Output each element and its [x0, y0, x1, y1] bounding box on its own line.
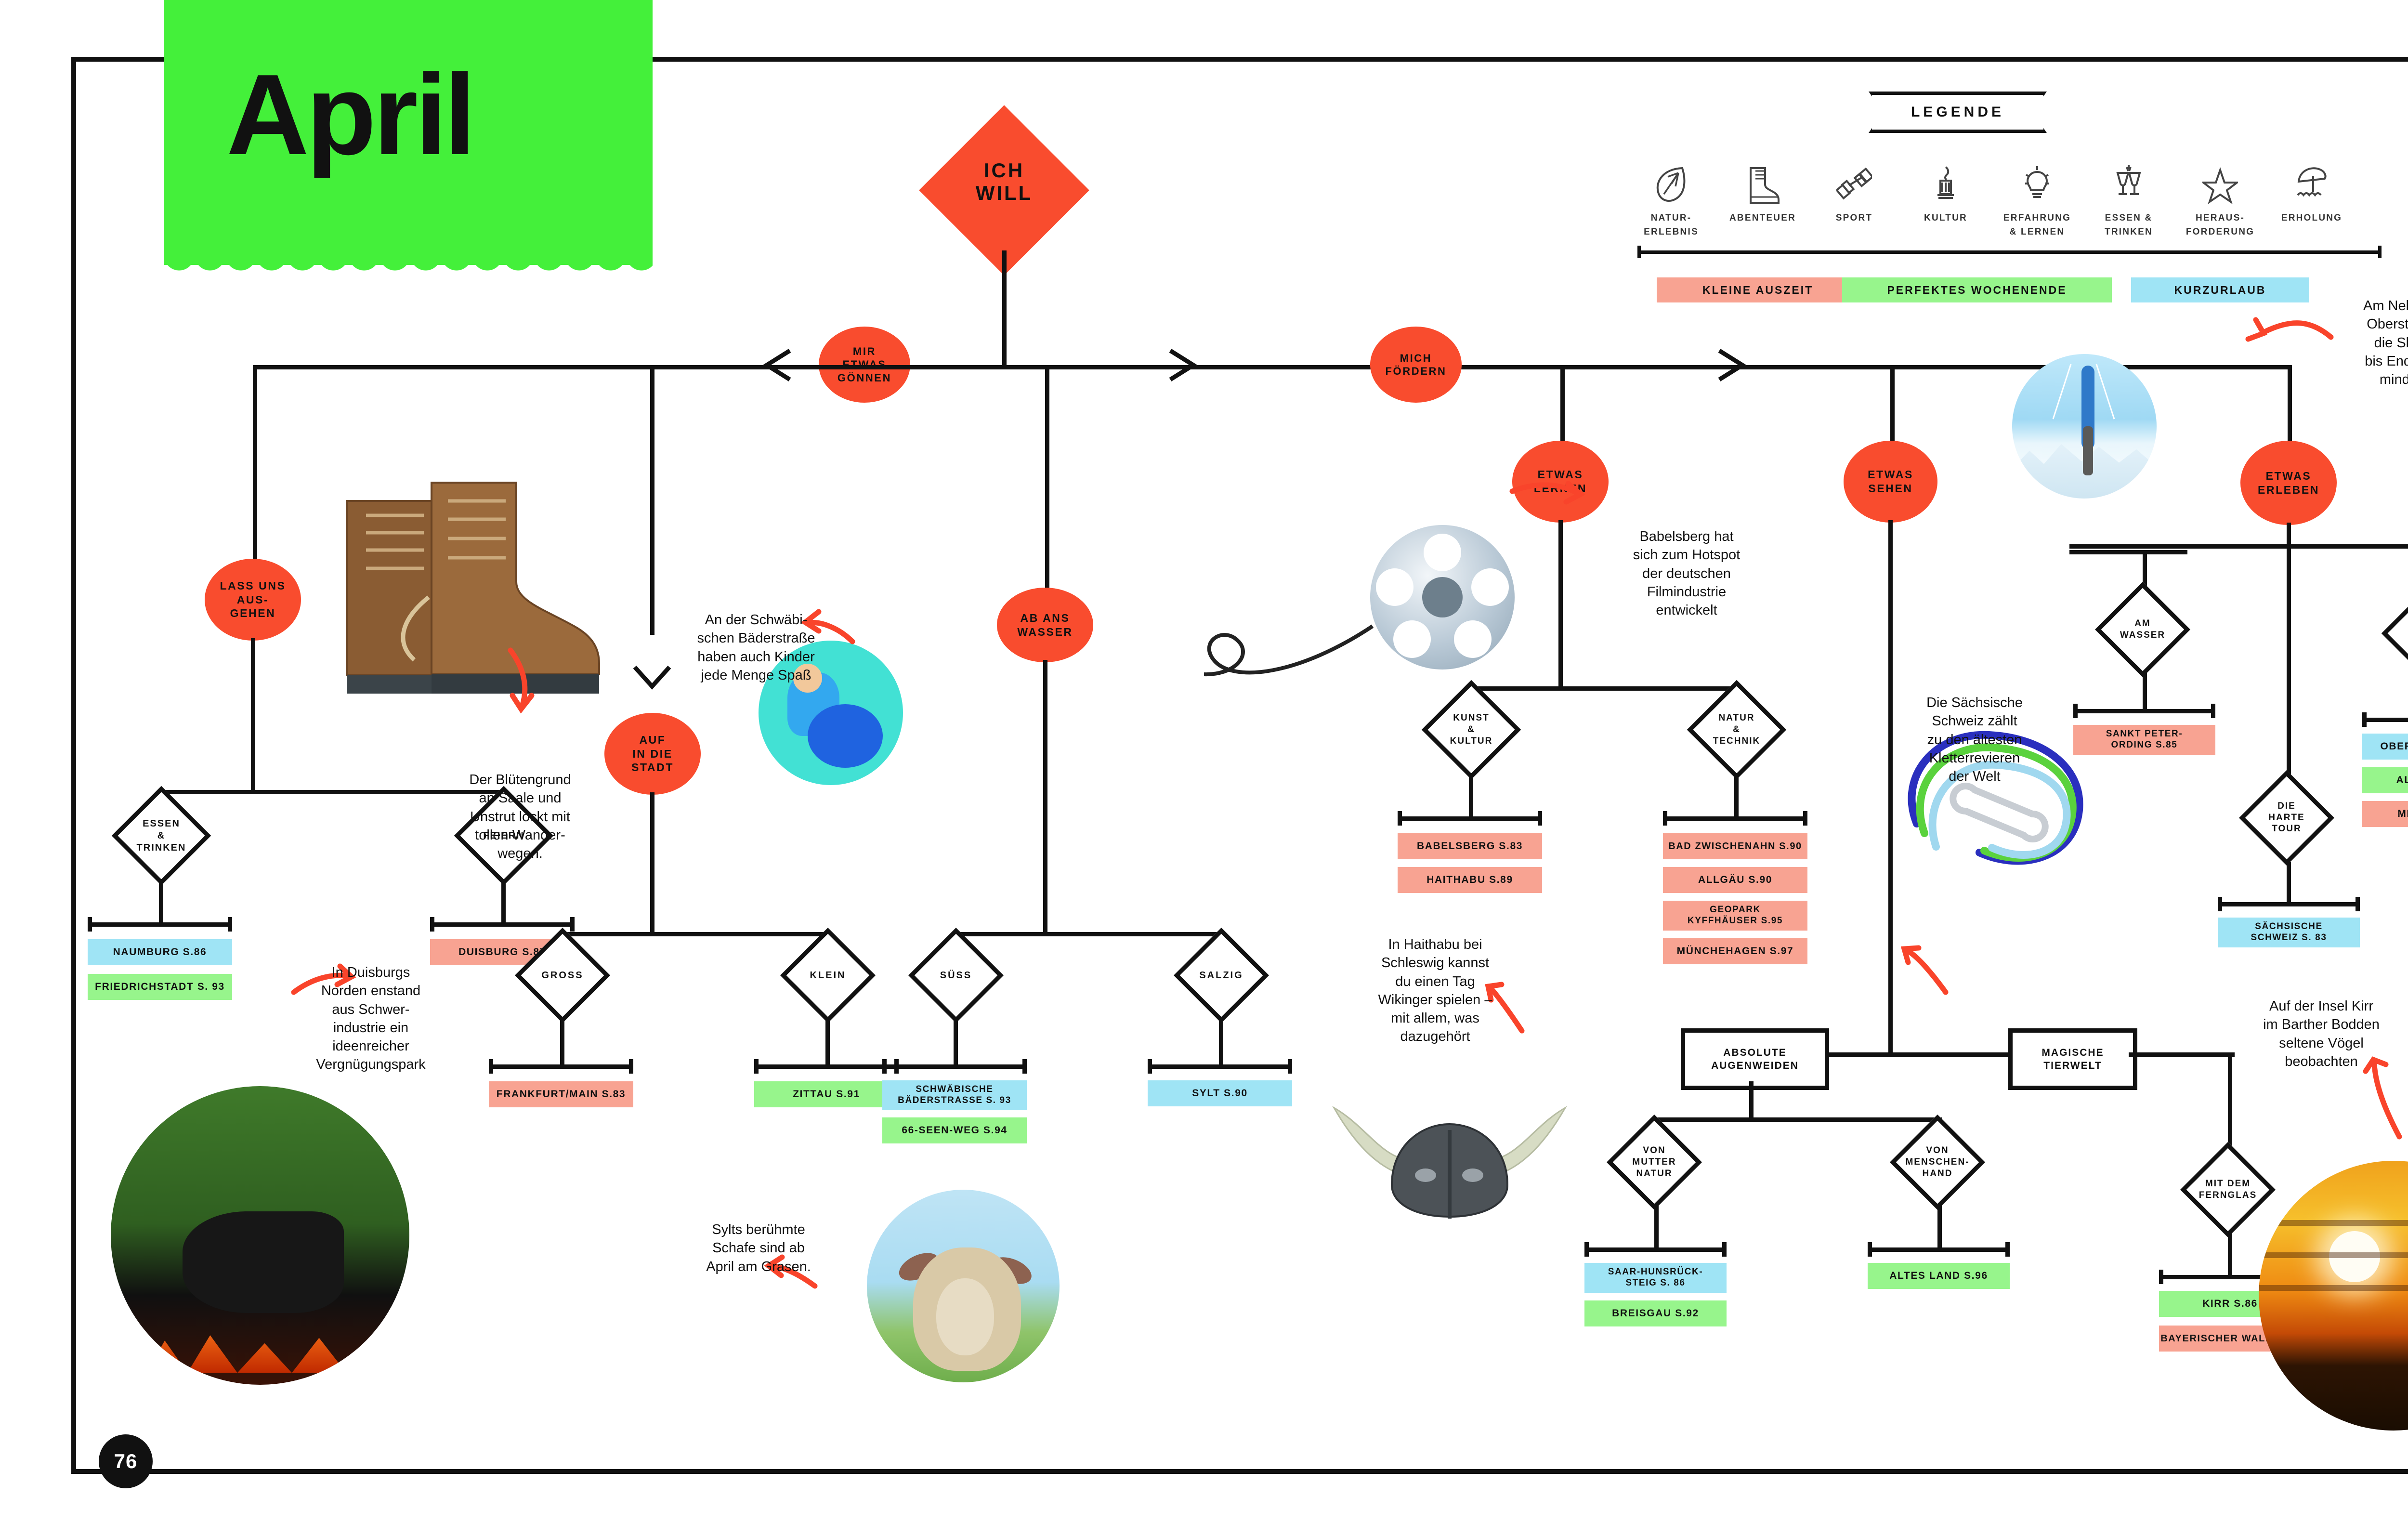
annotation-duisburg: In Duisburgs Norden enstand aus Schwer- …	[299, 963, 443, 1074]
tag-bracket	[489, 1064, 633, 1069]
tag-bracket	[88, 922, 232, 927]
connector	[954, 1019, 958, 1067]
node-absolute-augenweiden: ABSOLUTE AUGENWEIDEN	[1681, 1028, 1829, 1090]
connector	[560, 1019, 564, 1067]
photo-sheep	[867, 1190, 1060, 1382]
node-am-wasser: AM WASSER	[2099, 584, 2186, 675]
tag-oberstdorf: OBERSTDORF S.81	[2362, 734, 2408, 760]
connector	[1890, 365, 1895, 447]
node-label: NATUR & TECHNIK	[1713, 712, 1760, 747]
connector	[501, 879, 506, 925]
annotation-saechsische: Die Sächsische Schweiz zählt zu den älte…	[1902, 694, 2047, 786]
annotation-babelsberg: Babelsberg hat sich zum Hotspot der deut…	[1614, 527, 1759, 619]
annotation-schwaebische: An der Schwäbi- schen Bäderstraße haben …	[684, 611, 828, 684]
connector	[2228, 1233, 2232, 1277]
tag-zittau: ZITTAU S.91	[754, 1081, 899, 1107]
node-label: AM WASSER	[2120, 618, 2165, 641]
connector	[1560, 365, 2291, 369]
tag-bracket	[1663, 816, 1807, 821]
root-label: ICH WILL	[944, 159, 1064, 204]
tag-haithabu: HAITHABU S.89	[1398, 867, 1542, 893]
node-essen-trinken: ESSEN & TRINKEN	[116, 790, 207, 881]
node-von-menschenhand: VON MENSCHEN- HAND	[1894, 1116, 1981, 1208]
legend-item-abenteuer: ABENTEUER	[1717, 154, 1808, 225]
tag-allgaeu-84: ALLGÄU S.84	[2362, 767, 2408, 793]
page-number-left: 76	[99, 1434, 153, 1488]
annotation-nebelhorn: Am Nebelhorn in Oberstdorf geht die Skis…	[2345, 297, 2408, 389]
month-tab-scallop	[164, 255, 653, 286]
connector	[2228, 1052, 2232, 1146]
connector	[650, 365, 654, 635]
tag-bracket	[2218, 902, 2360, 906]
tag-bracket	[1868, 1247, 2010, 1252]
node-kunst-kultur: KUNST & KULTUR	[1426, 684, 1517, 775]
node-natur-technik: NATUR & TECHNIK	[1691, 684, 1782, 775]
tag-saechsische-schweiz: SÄCHSISCHE SCHWEIZ S. 83	[2218, 918, 2360, 947]
node-label: SALZIG	[1199, 970, 1243, 982]
connector	[1043, 660, 1047, 932]
connector	[2288, 365, 2292, 447]
boot-icon	[1717, 154, 1808, 205]
node-salzig: SALZIG	[1176, 930, 1267, 1021]
legend-item-erholung: ERHOLUNG	[2266, 154, 2357, 225]
connector	[1219, 1019, 1223, 1067]
legend-title: LEGENDE	[1869, 92, 2047, 133]
legend-label: ESSEN & TRINKEN	[2083, 211, 2174, 239]
infographic-page: April 76 77 LEGENDE NATUR- ERLEBNIS ABEN…	[0, 0, 2408, 1536]
connector	[1654, 1206, 1659, 1250]
prop-filmreel	[1370, 525, 1515, 670]
tag-altes-land: ALTES LAND S.96	[1868, 1263, 2010, 1289]
connector	[1749, 1081, 1754, 1120]
node-label: KUNST & KULTUR	[1450, 712, 1493, 747]
node-label: GROSS	[541, 970, 583, 982]
tag-naumburg: NAUMBURG S.86	[88, 939, 232, 965]
connector	[1558, 520, 1563, 686]
node-etwas-lernen: ETWAS LERNEN	[1512, 441, 1609, 523]
legend-label: ERHOLUNG	[2266, 211, 2357, 225]
tag-merzig: MERZIG S.94	[2362, 801, 2408, 827]
legend-item-natur: NATUR- ERLEBNIS	[1625, 154, 1717, 239]
tag-bracket	[754, 1064, 899, 1069]
node-label: VON MENSCHEN- HAND	[1905, 1145, 1969, 1179]
legend-label: KULTUR	[1900, 211, 1991, 225]
node-mir-etwas-goennen: MIR ETWAS GÖNNEN	[819, 327, 910, 403]
node-label: ESSEN & TRINKEN	[137, 818, 186, 854]
tag-geopark-kyffhaeuser: GEOPARK KYFFHÄUSER S.95	[1663, 901, 1807, 931]
monument-icon	[1900, 154, 1991, 205]
legend-label: NATUR- ERLEBNIS	[1625, 211, 1717, 239]
legend-chip-perfektes-wochenende: PERFEKTES WOCHENENDE	[1842, 277, 2112, 302]
node-label: MIT DEM FERNGLAS	[2199, 1178, 2257, 1201]
legend-scale-bar	[1637, 250, 2382, 254]
tag-saar-hunsrueck-steig: SAAR-HUNSRÜCK- STEIG S. 86	[1584, 1263, 1727, 1293]
tag-66-seen-weg: 66-SEEN-WEG S.94	[882, 1117, 1027, 1143]
node-suess: SÜSS	[910, 930, 1002, 1021]
connector	[2143, 673, 2147, 712]
annotation-sylt: Sylts berühmte Schafe sind ab April am G…	[684, 1221, 833, 1276]
connector	[1888, 520, 1893, 1055]
tag-bracket	[1148, 1064, 1292, 1069]
connector	[2069, 550, 2187, 554]
legend-item-erfahrung: ERFAHRUNG & LERNEN	[1991, 154, 2083, 239]
tag-schwaebische-baederstrasse: SCHWÄBISCHE BÄDERSTRASSE S. 93	[882, 1080, 1027, 1110]
node-von-mutter-natur: VON MUTTER NATUR	[1611, 1116, 1698, 1208]
cheers-icon	[2083, 154, 2174, 205]
connector	[2287, 523, 2291, 592]
connector	[650, 792, 654, 932]
node-ab-ans-wasser: AB ANS WASSER	[997, 588, 1093, 662]
connector	[1469, 773, 1473, 819]
tag-muenchehagen: MÜNCHEHAGEN S.97	[1663, 938, 1807, 964]
legend-label: ERFAHRUNG & LERNEN	[1991, 211, 2083, 239]
tag-breisgau: BREISGAU S.92	[1584, 1300, 1727, 1326]
tag-bad-zwischenahn: BAD ZWISCHENAHN S.90	[1663, 833, 1807, 859]
page-title: April	[226, 58, 473, 172]
connector	[650, 365, 1049, 369]
node-label: DIE HARTE TOUR	[2268, 801, 2304, 835]
star-icon	[2174, 154, 2266, 205]
tag-bracket	[1398, 816, 1542, 821]
dumbbell-icon	[1808, 154, 1900, 205]
connector	[1937, 1206, 1942, 1250]
connector	[1560, 365, 1565, 447]
tag-bracket	[1584, 1247, 1727, 1252]
node-mit-dem-fernglas: MIT DEM FERNGLAS	[2185, 1144, 2271, 1235]
tag-sylt: SYLT S.90	[1148, 1080, 1292, 1106]
connector	[251, 638, 255, 790]
annotation-kirr: Auf der Insel Kirr im Barther Bodden sel…	[2244, 997, 2398, 1071]
connector	[825, 1019, 830, 1067]
legend-chip-kleine-auszeit: KLEINE AUSZEIT	[1657, 277, 1859, 302]
tag-friedrichstadt: FRIEDRICHSTADT S. 93	[88, 974, 232, 1000]
connector	[1734, 773, 1739, 819]
legend-label: HERAUS- FORDERUNG	[2174, 211, 2266, 239]
tag-bracket	[430, 922, 575, 927]
legend-item-essen: ESSEN & TRINKEN	[2083, 154, 2174, 239]
node-die-harte-tour: DIE HARTE TOUR	[2243, 771, 2330, 865]
node-label: KLEIN	[810, 970, 846, 982]
legend-item-kultur: KULTUR	[1900, 154, 1991, 225]
photo-ski	[2012, 354, 2157, 499]
node-magische-tierwelt: MAGISCHE TIERWELT	[2008, 1028, 2137, 1090]
tag-frankfurt: FRANKFURT/MAIN S.83	[489, 1081, 633, 1107]
tag-bracket	[882, 1064, 1027, 1069]
legend-item-herausforderung: HERAUS- FORDERUNG	[2174, 154, 2266, 239]
connector	[2069, 544, 2408, 549]
photo-knight	[111, 1086, 409, 1385]
connector	[159, 879, 163, 925]
node-klein: KLEIN	[782, 930, 874, 1021]
node-etwas-erleben: ETWAS ERLEBEN	[2240, 441, 2337, 525]
node-gross: GROSS	[517, 930, 608, 1021]
connector	[1002, 250, 1007, 367]
node-mich-foerdern: MICH FÖRDERN	[1370, 327, 1462, 403]
node-in-den-bergen: IN DEN BERGEN	[2388, 588, 2408, 679]
legend-banner: LEGENDE	[1869, 92, 2047, 133]
node-label: SÜSS	[940, 970, 972, 982]
legend-label: SPORT	[1808, 211, 1900, 225]
legend-label: ABENTEUER	[1717, 211, 1808, 225]
tag-babelsberg: BABELSBERG S.83	[1398, 833, 1542, 859]
tag-bracket	[2362, 718, 2408, 722]
tag-sankt-peter-ording: SANKT PETER- ORDING S.85	[2073, 725, 2215, 755]
node-lass-uns-ausgehen: LASS UNS AUS- GEHEN	[205, 559, 301, 641]
annotation-haithabu: In Haithabu bei Schleswig kannst du eine…	[1363, 935, 1507, 1046]
node-etwas-sehen: ETWAS SEHEN	[1844, 441, 1937, 523]
annotation-bluetengrund: Der Blütengrund an Saale und Unstrut loc…	[448, 771, 592, 863]
tag-bracket	[2073, 709, 2215, 713]
legend-chip-kurzurlaub: KURZURLAUB	[2131, 277, 2309, 302]
leaf-icon	[1625, 154, 1717, 205]
lightbulb-icon	[1991, 154, 2083, 205]
node-auf-in-die-stadt: AUF IN DIE STADT	[604, 713, 701, 795]
connector	[2129, 1052, 2232, 1057]
connector	[1045, 365, 1049, 591]
tag-allgaeu-90: ALLGÄU S.90	[1663, 867, 1807, 893]
connector	[2143, 550, 2147, 586]
connector	[2287, 862, 2291, 905]
node-label: FEIERN	[483, 830, 524, 842]
connector	[2287, 592, 2291, 783]
node-label: VON MUTTER NATUR	[1632, 1145, 1676, 1179]
parasol-icon	[2266, 154, 2357, 205]
legend-item-sport: SPORT	[1808, 154, 1900, 225]
